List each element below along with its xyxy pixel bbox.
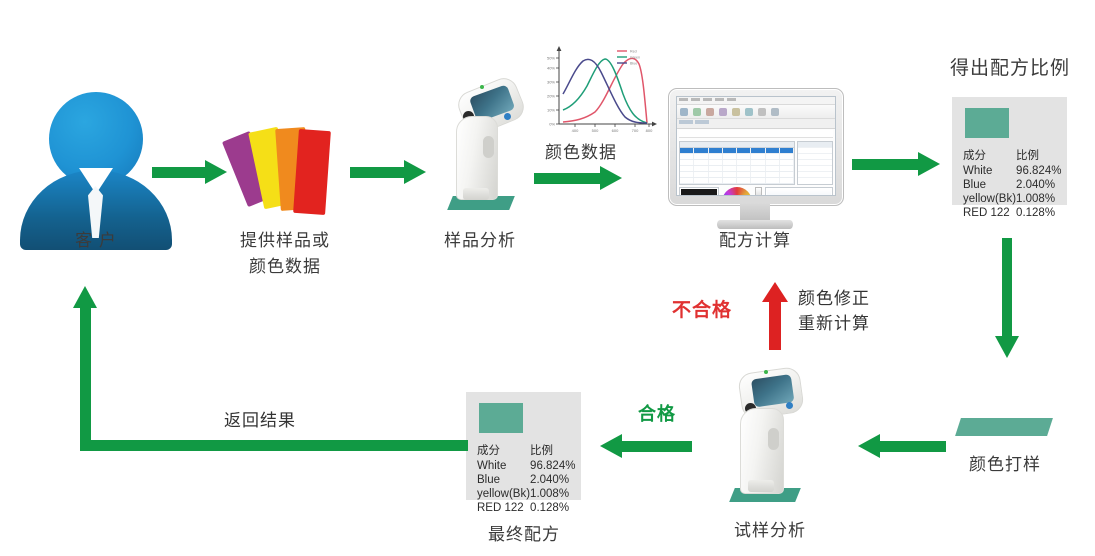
- recipe-table: 成分 比例 White 96.824% Blue 2.040% yellow(B…: [477, 441, 575, 515]
- label-sample-analysis: 样品分析: [400, 228, 560, 253]
- arrow-return-to-customer: [68, 286, 468, 454]
- label-correction-line1: 颜色修正: [762, 286, 892, 311]
- data-grid[interactable]: [679, 141, 795, 185]
- label-color-data: 颜色数据: [516, 140, 646, 165]
- recipe-component: yellow(Bk): [963, 192, 1016, 206]
- recipe-ratio: 0.128%: [1016, 206, 1061, 220]
- label-formula-calc: 配方计算: [675, 228, 835, 253]
- app-menubar[interactable]: [677, 97, 835, 105]
- status-led-icon: [480, 85, 484, 89]
- node-spectrophotometer-bottom: [718, 370, 818, 510]
- node-color-swatch-fan: [234, 124, 340, 224]
- svg-text:500: 500: [592, 128, 599, 133]
- recipe-side-panel[interactable]: [797, 141, 833, 185]
- recipe-component: White: [477, 459, 530, 473]
- brand-logo-icon: [786, 402, 793, 409]
- svg-text:400: 400: [572, 128, 579, 133]
- sample-preview-box: [679, 187, 719, 196]
- label-color-proofing: 颜色打样: [930, 452, 1080, 477]
- device-vent: [768, 428, 779, 450]
- app-input-bar[interactable]: [679, 130, 833, 138]
- recipe-ratio: 0.128%: [530, 501, 575, 515]
- brand-logo-icon: [504, 113, 511, 120]
- recipe-table: 成分 比例 White 96.824% Blue 2.040% yellow(B…: [963, 146, 1061, 220]
- monitor-screen: [676, 96, 836, 196]
- table-row: RED 122 0.128%: [477, 501, 575, 515]
- table-row: Blue 2.040%: [477, 473, 575, 487]
- svg-text:Green: Green: [630, 56, 640, 60]
- svg-text:600: 600: [612, 128, 619, 133]
- chart-svg: 0% 10% 20% 30% 40% 50% 400 500 600 700 8: [537, 42, 661, 142]
- spectral-reflectance-chart: 0% 10% 20% 30% 40% 50% 400 500 600 700 8: [537, 42, 661, 142]
- arrow-recipe-to-proofing: [995, 238, 1019, 360]
- recipe-component: yellow(Bk): [477, 487, 530, 501]
- recipe-card-final: 成分 比例 White 96.824% Blue 2.040% yellow(B…: [466, 392, 581, 500]
- status-led-icon: [764, 370, 768, 374]
- recipe-component: White: [963, 164, 1016, 178]
- svg-text:30%: 30%: [547, 80, 555, 85]
- recipe-color-swatch: [479, 403, 523, 433]
- table-row: yellow(Bk) 1.008%: [477, 487, 575, 501]
- table-row: yellow(Bk) 1.008%: [963, 192, 1061, 206]
- svg-text:Red: Red: [630, 50, 637, 54]
- arrow-pass-to-final-recipe: [600, 434, 692, 458]
- svg-text:0%: 0%: [549, 122, 555, 127]
- recipe-header-row: 成分 比例: [477, 441, 575, 459]
- device-foot: [463, 188, 489, 200]
- recipe-ratio: 1.008%: [1016, 192, 1061, 206]
- table-row: White 96.824%: [477, 459, 575, 473]
- recipe-color-swatch: [965, 108, 1009, 138]
- recipe-ratio: 96.824%: [1016, 164, 1061, 178]
- color-wheel[interactable]: [722, 187, 752, 196]
- node-color-proof-swatch: [955, 418, 1053, 436]
- recipe-component: RED 122: [963, 206, 1016, 220]
- table-row: RED 122 0.128%: [963, 206, 1061, 220]
- arrow-samples-to-analysis: [350, 160, 430, 184]
- recipe-component: Blue: [963, 178, 1016, 192]
- label-recipe-top: 得出配方比例: [930, 56, 1090, 81]
- label-samples-line2: 颜色数据: [205, 254, 365, 279]
- svg-text:700: 700: [632, 128, 639, 133]
- svg-text:40%: 40%: [547, 66, 555, 71]
- svg-text:Blue: Blue: [630, 62, 637, 66]
- recipe-component: Blue: [477, 473, 530, 487]
- recipe-header-component: 成分: [477, 441, 530, 459]
- svg-text:10%: 10%: [547, 108, 555, 113]
- recipe-ratio: 2.040%: [530, 473, 575, 487]
- recipe-component: RED 122: [477, 501, 530, 515]
- device-vent: [483, 136, 494, 158]
- label-final-recipe: 最终配方: [444, 522, 604, 547]
- lightness-slider[interactable]: [755, 187, 762, 196]
- svg-text:50%: 50%: [547, 56, 555, 61]
- node-formula-calculation-monitor: [668, 88, 842, 230]
- recipe-card-top: 成分 比例 White 96.824% Blue 2.040% yellow(B…: [952, 97, 1067, 205]
- label-pass: 合格: [622, 402, 692, 427]
- spectrum-panel: [765, 187, 833, 196]
- device-foot: [748, 480, 774, 492]
- svg-text:800: 800: [646, 128, 653, 133]
- recipe-ratio: 96.824%: [530, 459, 575, 473]
- svg-text:20%: 20%: [547, 94, 555, 99]
- recipe-header-row: 成分 比例: [963, 146, 1061, 164]
- arrow-calc-to-recipe: [852, 152, 946, 176]
- arrow-color-data: [534, 166, 628, 190]
- swatch-red: [293, 129, 331, 215]
- table-row: Blue 2.040%: [963, 178, 1061, 192]
- workflow-diagram: 客 户 提供样品或 颜色数据 样品分析: [0, 0, 1095, 556]
- arrow-proofing-to-specimen: [858, 434, 946, 458]
- recipe-header-ratio: 比例: [1016, 146, 1061, 164]
- app-toolbar[interactable]: [677, 105, 835, 119]
- label-fail: 不合格: [672, 298, 752, 323]
- label-samples-line1: 提供样品或: [205, 228, 365, 253]
- app-tabs[interactable]: [677, 119, 835, 129]
- recipe-header-ratio: 比例: [530, 441, 575, 459]
- table-row: White 96.824%: [963, 164, 1061, 178]
- recipe-ratio: 2.040%: [1016, 178, 1061, 192]
- arrow-customer-to-samples: [152, 160, 230, 184]
- label-customer: 客 户: [18, 228, 174, 253]
- recipe-ratio: 1.008%: [530, 487, 575, 501]
- recipe-header-component: 成分: [963, 146, 1016, 164]
- label-specimen-analysis: 试样分析: [690, 518, 850, 543]
- label-correction-line2: 重新计算: [762, 311, 892, 336]
